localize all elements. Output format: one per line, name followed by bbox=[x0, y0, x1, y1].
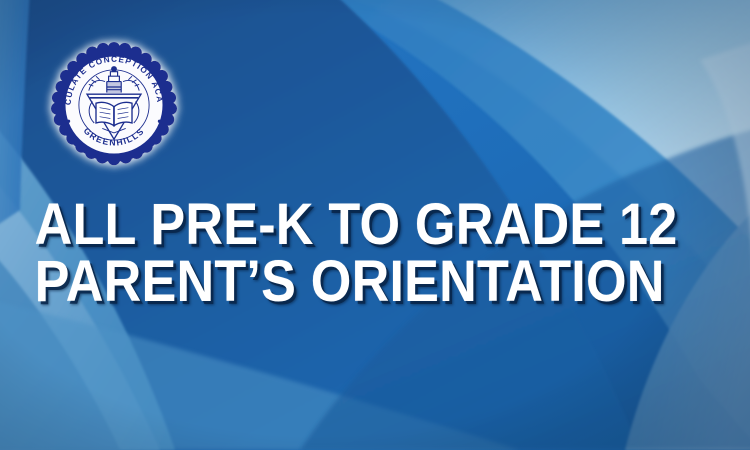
headline-line-2: PARENT’S ORIENTATION bbox=[35, 253, 658, 310]
headline-block: ALL PRE-K TO GRADE 12 PARENT’S ORIENTATI… bbox=[0, 196, 750, 310]
school-seal-icon: IMMACULATE CONCEPTION ACADEMY GREENHILLS bbox=[45, 42, 183, 168]
orientation-banner: IMMACULATE CONCEPTION ACADEMY GREENHILLS bbox=[0, 0, 750, 450]
headline-line-1: ALL PRE-K TO GRADE 12 bbox=[35, 196, 658, 253]
